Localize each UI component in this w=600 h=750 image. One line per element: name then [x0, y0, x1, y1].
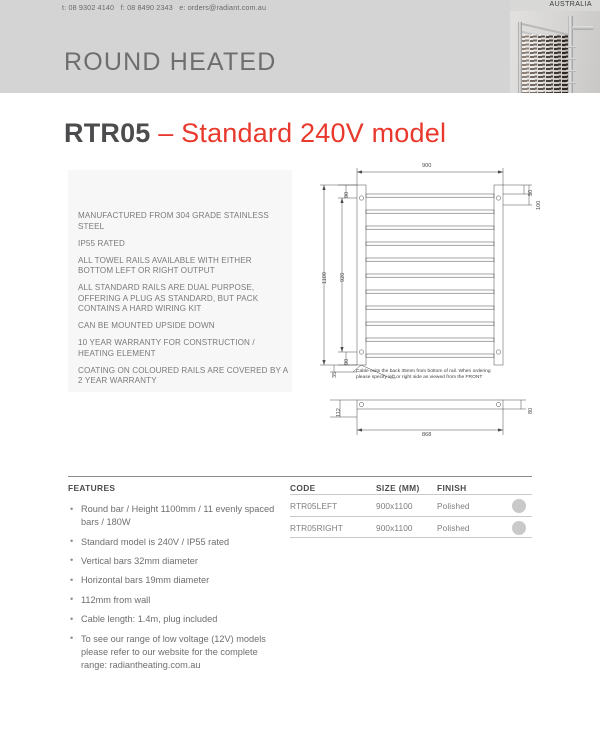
cell-size: 900x1100	[376, 523, 413, 533]
towel	[530, 34, 537, 93]
column-header-size: SIZE (MM)	[376, 483, 420, 493]
model-title: RTR05 – Standard 240V model	[64, 118, 446, 149]
rung	[366, 258, 494, 261]
dim-right-100: 100	[536, 201, 542, 210]
feature-item: Cable length: 1.4m, plug included	[70, 613, 285, 626]
table-row: RTR05RIGHT 900x1100 Polished	[290, 516, 532, 538]
photo-rung	[566, 58, 576, 60]
spec-item: ALL STANDARD RAILS ARE DUAL PURPOSE, OFF…	[78, 283, 288, 315]
dim-right-50: 50	[528, 190, 534, 196]
feature-list: Round bar / Height 1100mm / 11 evenly sp…	[70, 503, 285, 678]
dim-top-offset-90: 90	[344, 192, 350, 198]
towel	[522, 34, 529, 93]
dim-height-1100: 1100	[322, 272, 328, 284]
rung	[366, 306, 494, 309]
plan-mount	[359, 402, 363, 406]
photo-towels	[522, 34, 572, 93]
rung	[366, 226, 494, 229]
spec-item: MANUFACTURED FROM 304 GRADE STAINLESS ST…	[78, 211, 288, 232]
finish-swatch	[512, 499, 526, 513]
technical-drawing: 900 1100 920 90 50 100 90 35 112 80 868	[300, 160, 550, 450]
table-row: RTR05LEFT 900x1100 Polished	[290, 494, 532, 516]
finish-swatch	[512, 521, 526, 535]
mount-point	[496, 196, 500, 200]
feature-item: Standard model is 240V / IP55 rated	[70, 536, 285, 549]
rung	[366, 210, 494, 213]
plan-mount	[496, 402, 500, 406]
rung	[366, 290, 494, 293]
cell-finish: Polished	[437, 523, 470, 533]
dim-plan-868: 868	[422, 432, 431, 438]
dim-height-920: 920	[340, 273, 346, 282]
cell-finish: Polished	[437, 501, 470, 511]
dim-plan-80: 80	[528, 408, 534, 414]
cell-size: 900x1100	[376, 501, 413, 511]
feature-item: 112mm from wall	[70, 594, 285, 607]
column-header-code: CODE	[290, 483, 316, 493]
spec-item: CAN BE MOUNTED UPSIDE DOWN	[78, 321, 288, 332]
model-code: RTR05	[64, 118, 151, 148]
rung	[366, 338, 494, 341]
cell-code: RTR05RIGHT	[290, 523, 343, 533]
spec-item: ALL TOWEL RAILS AVAILABLE WITH EITHER BO…	[78, 256, 288, 277]
feature-item: Round bar / Height 1100mm / 11 evenly sp…	[70, 503, 285, 529]
product-table: RTR05LEFT 900x1100 Polished RTR05RIGHT 9…	[290, 494, 532, 538]
photo-caption: AUSTRALIA	[550, 1, 593, 8]
rung	[366, 194, 494, 197]
spec-item: COATING ON COLOURED RAILS ARE COVERED BY…	[78, 366, 288, 387]
page-title: ROUND HEATED	[64, 48, 277, 77]
spec-item: 10 YEAR WARRANTY FOR CONSTRUCTION / HEAT…	[78, 338, 288, 359]
section-divider	[68, 476, 532, 477]
towel	[538, 34, 545, 93]
feature-item: Vertical bars 32mm diameter	[70, 555, 285, 568]
mount-point	[359, 196, 363, 200]
contact-info: t: 08 9302 4140 f: 08 8490 2343 e: order…	[62, 3, 266, 12]
photo-rung	[566, 46, 576, 48]
towel	[554, 34, 561, 93]
product-spec-sheet: t: 08 9302 4140 f: 08 8490 2343 e: order…	[0, 0, 600, 750]
left-post	[357, 185, 366, 365]
plan-rail	[357, 400, 503, 409]
cable-note: Cable exits the back 35mm from bottom of…	[356, 369, 506, 382]
towel	[546, 34, 553, 93]
dim-width-900: 900	[422, 163, 431, 169]
photo-rung	[566, 70, 576, 72]
feature-item: To see our range of low voltage (12V) mo…	[70, 633, 285, 673]
spec-item: IP55 RATED	[78, 239, 288, 250]
photo-wall-bracket	[572, 26, 594, 30]
model-separator: –	[151, 118, 182, 148]
rung	[366, 322, 494, 325]
rung	[366, 274, 494, 277]
drawing-svg	[300, 160, 550, 450]
dim-bottom-offset-90: 90	[344, 359, 350, 365]
dim-cable-35: 35	[332, 372, 338, 378]
mount-point	[496, 350, 500, 354]
spec-list: MANUFACTURED FROM 304 GRADE STAINLESS ST…	[78, 211, 288, 393]
mount-point	[359, 350, 363, 354]
product-photo	[510, 0, 600, 93]
cell-code: RTR05LEFT	[290, 501, 337, 511]
rung	[366, 242, 494, 245]
dim-plan-112: 112	[336, 408, 342, 417]
column-header-finish: FINISH	[437, 483, 467, 493]
right-post	[494, 185, 503, 365]
photo-rung	[566, 82, 576, 84]
feature-item: Horizontal bars 19mm diameter	[70, 574, 285, 587]
column-header-features: FEATURES	[68, 483, 115, 493]
rung	[366, 354, 494, 357]
model-description: Standard 240V model	[181, 118, 446, 148]
